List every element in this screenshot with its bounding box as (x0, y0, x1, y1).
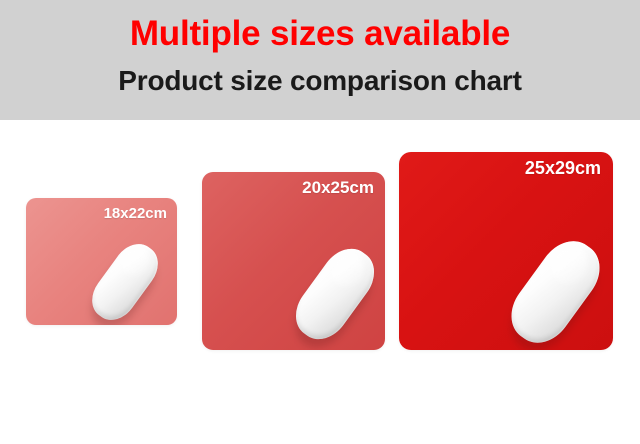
banner-title: Multiple sizes available (0, 14, 640, 54)
mousepad-medium-size-label: 20x25cm (302, 178, 374, 198)
mousepad-medium[interactable]: 20x25cm (202, 172, 385, 350)
mouse-gloss-highlight (326, 248, 369, 293)
banner-subtitle: Product size comparison chart (0, 64, 640, 98)
mouse-icon-small (83, 236, 166, 325)
mouse-gloss-highlight (118, 243, 154, 280)
mousepad-large[interactable]: 25x29cm (399, 152, 613, 350)
size-comparison-area: 18x22cm 20x25cm 25x29cm (0, 120, 640, 444)
promo-banner: Multiple sizes available Product size co… (0, 0, 640, 120)
mousepad-small-size-label: 18x22cm (104, 205, 167, 222)
mousepad-small[interactable]: 18x22cm (26, 198, 177, 325)
mousepad-large-size-label: 25x29cm (525, 158, 601, 179)
mouse-icon-large (500, 230, 612, 350)
mouse-gloss-highlight (545, 240, 594, 290)
mouse-icon-medium (285, 239, 384, 349)
